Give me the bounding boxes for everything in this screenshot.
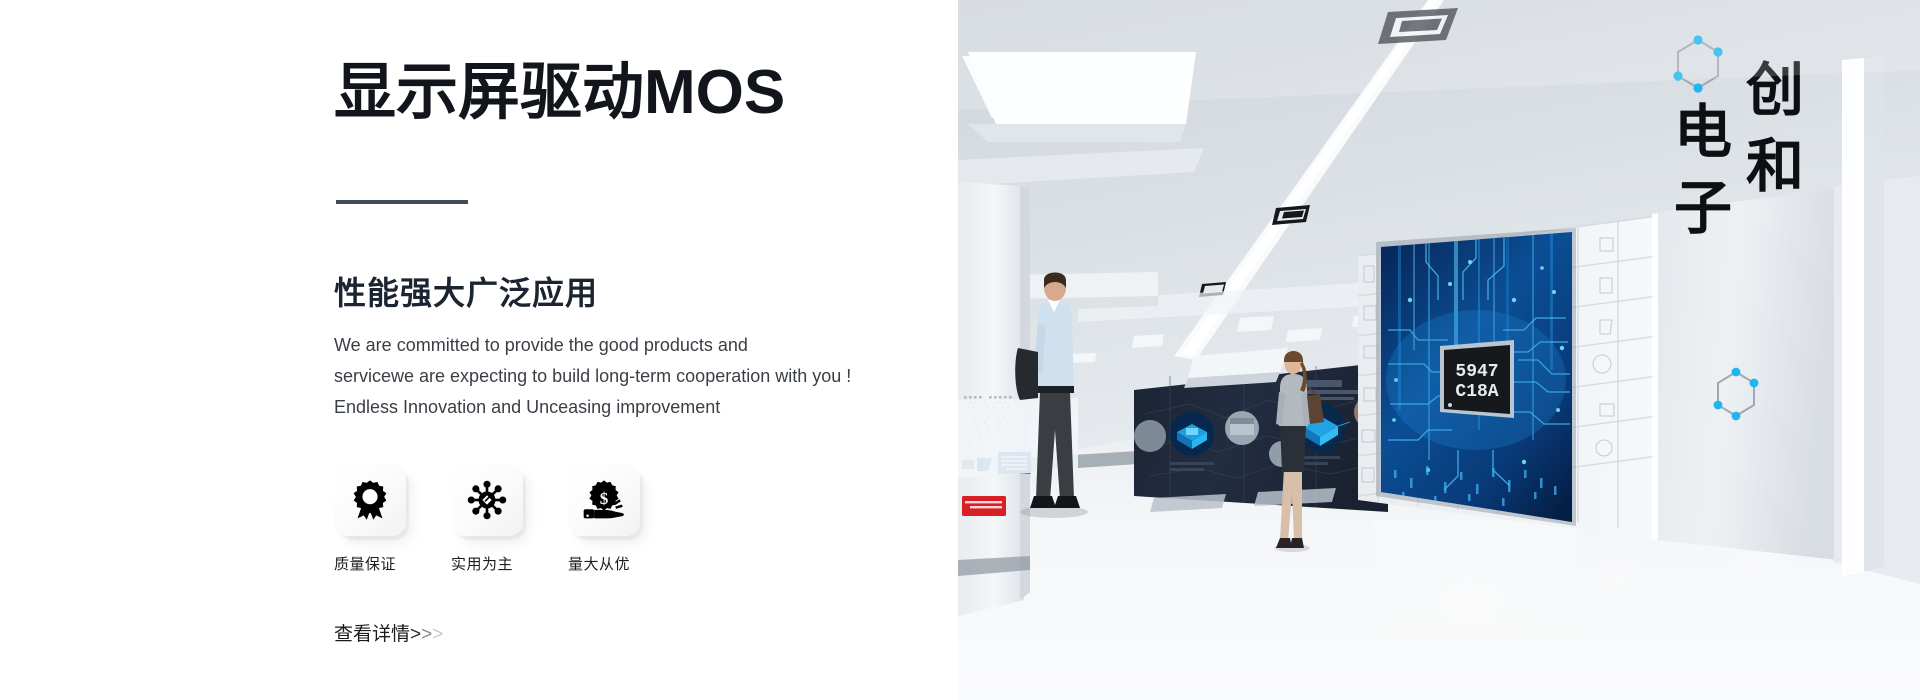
blue-led-display-screen: 5947 C18A bbox=[1376, 228, 1576, 526]
chip-label-line-2: C18A bbox=[1455, 382, 1498, 402]
feature-badge bbox=[451, 464, 523, 536]
showroom-photo: 5947 C18A bbox=[958, 0, 1920, 700]
feature-item-quality[interactable]: 质量保证 bbox=[334, 464, 424, 574]
paragraph-line-3: Endless Innovation and Unceasing improve… bbox=[334, 392, 894, 423]
feature-badge bbox=[334, 464, 406, 536]
feature-badge: $ bbox=[568, 464, 640, 536]
recessed-spotlight bbox=[1272, 205, 1310, 225]
screen-floor-reflection bbox=[1374, 520, 1578, 700]
feature-list: 质量保证 bbox=[334, 464, 658, 574]
feature-item-practical[interactable]: 实用为主 bbox=[451, 464, 541, 574]
paragraph-line-1: We are committed to provide the good pro… bbox=[334, 330, 894, 361]
feature-label: 实用为主 bbox=[451, 553, 541, 574]
network-hub-icon bbox=[466, 479, 508, 521]
text-panel: 显示屏驱动MOS 性能强大广泛应用 We are committed to pr… bbox=[0, 0, 958, 700]
wall-sign-col2-char2: 子 bbox=[1674, 174, 1732, 242]
exhibit-medallion-chip bbox=[1170, 412, 1214, 456]
view-details-link[interactable]: 查看详情>>> bbox=[334, 619, 443, 646]
showroom-scene: 5947 C18A bbox=[958, 0, 1920, 700]
view-details-label: 查看详情 bbox=[334, 624, 410, 645]
subtitle: 性能强大广泛应用 bbox=[334, 268, 598, 314]
chip-package: 5947 C18A bbox=[1440, 340, 1514, 418]
exhibit-medallion bbox=[1134, 420, 1166, 452]
paragraph-line-2: servicewe are expecting to build long-te… bbox=[334, 361, 894, 392]
description-paragraph: We are committed to provide the good pro… bbox=[334, 330, 894, 423]
exhibit-medallion bbox=[1225, 411, 1259, 445]
cta-arrow-1: > bbox=[410, 624, 421, 645]
feature-item-bulk-discount[interactable]: $ 量大从优 bbox=[568, 464, 658, 574]
cta-arrow-2: > bbox=[421, 624, 432, 645]
wall-sign-col2-char1: 电 bbox=[1674, 98, 1732, 166]
cta-arrow-3: > bbox=[432, 624, 443, 645]
chip-label-line-1: 5947 bbox=[1455, 362, 1498, 382]
right-signage-wall: 创 和 电 子 bbox=[1658, 35, 1920, 584]
title-divider bbox=[336, 200, 468, 204]
feature-label: 质量保证 bbox=[334, 553, 424, 574]
wall-sign-col1-char2: 和 bbox=[1746, 132, 1804, 200]
page-title: 显示屏驱动MOS bbox=[334, 62, 785, 124]
svg-text:$: $ bbox=[600, 489, 609, 508]
award-ribbon-icon bbox=[349, 479, 391, 521]
hero-banner: 显示屏驱动MOS 性能强大广泛应用 We are committed to pr… bbox=[0, 0, 1920, 700]
feature-label: 量大从优 bbox=[568, 553, 658, 574]
hand-money-icon: $ bbox=[583, 479, 625, 521]
